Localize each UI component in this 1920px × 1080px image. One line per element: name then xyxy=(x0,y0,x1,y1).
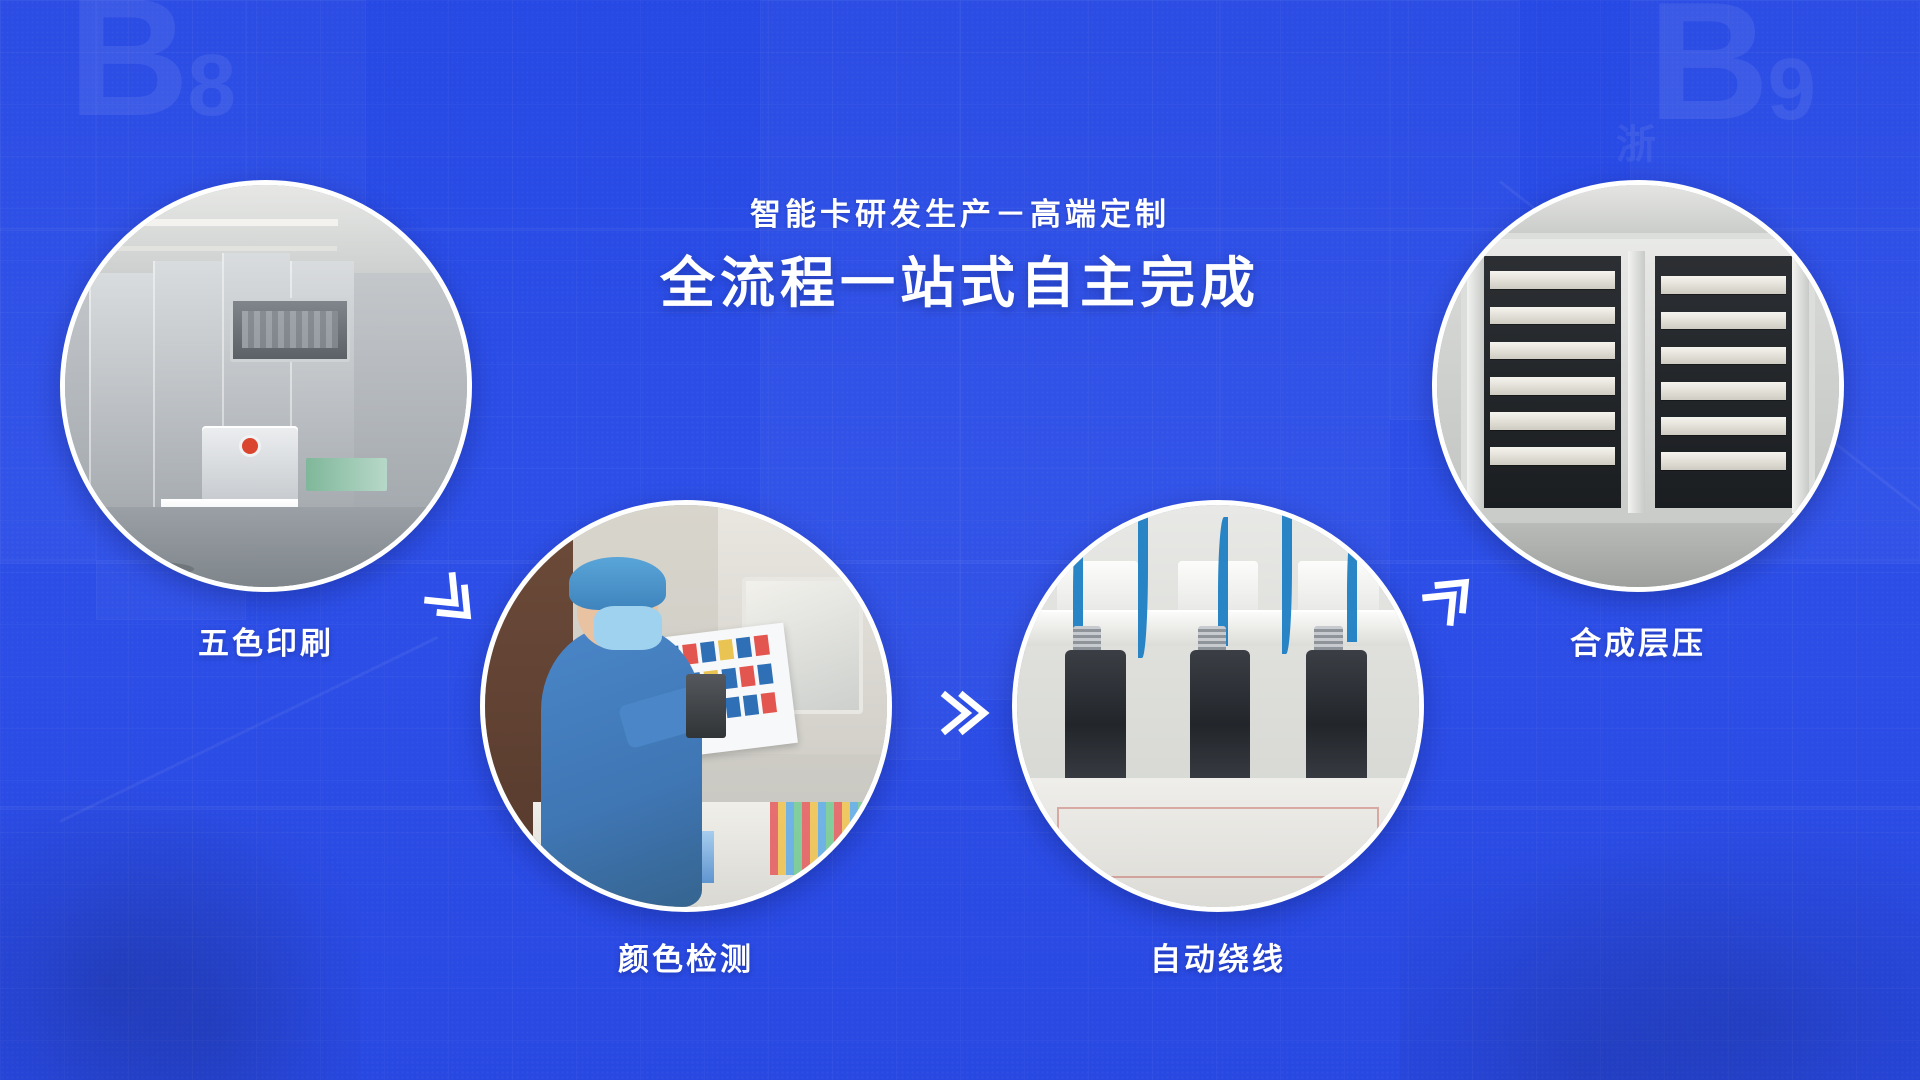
double-chevron-icon xyxy=(930,682,992,744)
step-photo-print[interactable] xyxy=(60,180,472,592)
watermark-letter-right: B xyxy=(1648,0,1767,155)
color-inspection-image xyxy=(485,505,887,907)
process-step-color-check[interactable]: 颜色检测 xyxy=(480,500,892,979)
process-step-winding[interactable]: 自动绕线 xyxy=(1012,500,1424,979)
step-label-lamination: 合成层压 xyxy=(1432,618,1844,663)
process-step-print[interactable]: 五色印刷 xyxy=(60,180,472,663)
watermark-number-left: 8 xyxy=(187,36,234,134)
watermark-letter-left: B xyxy=(68,0,187,151)
step-photo-winding[interactable] xyxy=(1012,500,1424,912)
step-label-color-check: 颜色检测 xyxy=(480,934,892,979)
step-label-winding: 自动绕线 xyxy=(1012,934,1424,979)
watermark-b9: B9 xyxy=(1648,0,1814,133)
promo-banner: B8 B9 浙 智能卡研发生产－高端定制 全流程一站式自主完成 五色印刷 xyxy=(0,0,1920,1080)
step-photo-lamination[interactable] xyxy=(1432,180,1844,592)
step-photo-color-check[interactable] xyxy=(480,500,892,912)
step-label-print: 五色印刷 xyxy=(60,618,472,663)
background-foliage-left xyxy=(0,750,360,1080)
process-step-lamination[interactable]: 合成层压 xyxy=(1432,180,1844,663)
background-foliage-right xyxy=(1400,780,1920,1080)
watermark-cn-character: 浙 xyxy=(1616,128,1658,162)
watermark-b8: B8 xyxy=(68,0,234,129)
printing-press-image xyxy=(65,185,467,587)
winding-machine-image xyxy=(1017,505,1419,907)
lamination-press-image xyxy=(1437,185,1839,587)
watermark-number-right: 9 xyxy=(1767,40,1814,138)
